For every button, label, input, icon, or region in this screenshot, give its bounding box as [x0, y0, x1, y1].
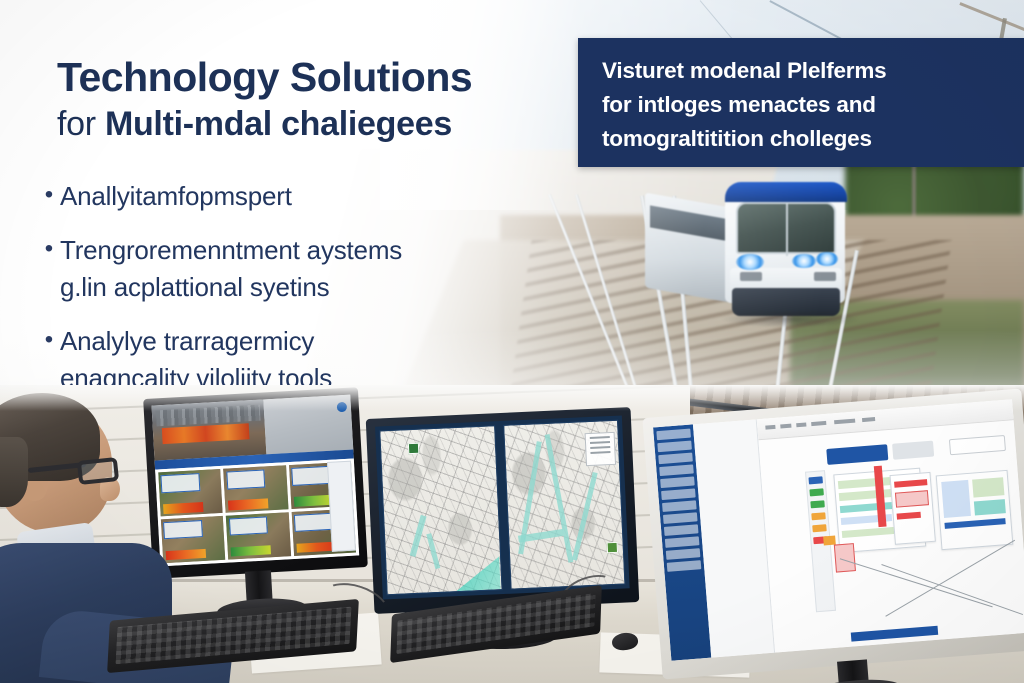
side-panel[interactable] [327, 461, 356, 552]
column-chip[interactable] [810, 500, 825, 508]
map-pane-right[interactable] [503, 420, 626, 590]
list-item-line-1: Analylye trarragermicy [60, 326, 314, 356]
alert-block [895, 490, 929, 508]
bullet-marker-icon: • [38, 178, 60, 212]
bullet-marker-icon: • [38, 232, 60, 266]
panel-indicator [336, 462, 337, 479]
list-item: • Anallyitamfopmspert [38, 178, 558, 215]
train-number-plate [740, 272, 762, 281]
monitor-screen[interactable] [152, 395, 360, 567]
grid-cell[interactable] [224, 466, 289, 513]
search-input[interactable] [948, 435, 1005, 456]
preview-card[interactable] [936, 470, 1013, 550]
control-room-photo [0, 385, 1024, 683]
dashboard-main-area[interactable] [757, 399, 1024, 652]
glasses-lens [77, 457, 119, 485]
train-number-plate [814, 272, 836, 281]
flag-block [834, 543, 857, 573]
inset-window [226, 469, 266, 489]
map-legend [585, 432, 616, 466]
panel-button[interactable] [331, 463, 332, 480]
inset-window [291, 466, 331, 486]
inset-window [229, 516, 269, 536]
list-item: • Trengroremenntment aystems g.lin acpla… [38, 232, 558, 306]
alert-row [894, 479, 927, 488]
active-tab-pill[interactable] [826, 444, 888, 465]
toolbar-icon[interactable] [765, 425, 776, 430]
monitor-screen[interactable] [375, 415, 630, 599]
train-windshield [736, 202, 836, 254]
city-blocks [380, 426, 501, 594]
status-badge-icon [336, 401, 347, 412]
dashboard-monitor[interactable] [642, 388, 1024, 679]
inset-window [294, 513, 334, 533]
rail-icon[interactable] [662, 500, 696, 512]
toolbar-icon[interactable] [781, 424, 792, 429]
toolbar-icon[interactable] [811, 421, 827, 426]
train-headlight [816, 252, 838, 266]
column-chip[interactable] [811, 512, 826, 520]
column-chip[interactable] [812, 524, 827, 532]
preview-footer [944, 518, 1005, 529]
column-chip[interactable] [808, 476, 823, 484]
list-item-line-1: Trengroremenntment aystems [60, 235, 402, 265]
page-title: Technology Solutions for Multi-mdal chal… [57, 52, 577, 146]
progress-bar [851, 626, 938, 642]
toolbar-icon[interactable] [834, 419, 855, 425]
column-chip[interactable] [809, 488, 824, 496]
monitor-screen[interactable] [653, 399, 1024, 661]
map-pane-left[interactable] [379, 425, 502, 595]
toolbar-icon[interactable] [862, 417, 875, 422]
rail-icon[interactable] [663, 512, 697, 524]
preview-pane [941, 480, 972, 519]
grid-cell[interactable] [226, 512, 291, 559]
rail-icon[interactable] [664, 524, 698, 536]
callout-line-1: Visturet modenal Plelferms [602, 54, 1002, 88]
list-item-line-2: g.lin acplattional syetins [60, 269, 402, 306]
train [700, 178, 900, 328]
headline-line-2-rest: Multi-mdal chaliegees [105, 105, 452, 143]
list-item-text: Trengroremenntment aystems g.lin acplatt… [60, 232, 402, 306]
headline-line-1: Technology Solutions [57, 52, 577, 102]
list-item-text: Anallyitamfopmspert [60, 178, 292, 215]
rail-icon[interactable] [656, 429, 690, 441]
aerial-view-thumbnail [264, 395, 354, 454]
rail-icon[interactable] [661, 488, 695, 500]
rail-icon[interactable] [659, 465, 693, 477]
bullet-list: • Anallyitamfopmspert • Trengroremenntme… [38, 178, 558, 414]
headline-line-2: for Multi-mdal chaliegees [57, 102, 577, 146]
panel-indicator [341, 462, 342, 479]
rail-icon[interactable] [657, 441, 691, 453]
secondary-tab-pill[interactable] [892, 441, 934, 461]
rail-icon[interactable] [667, 560, 701, 572]
train-roof-stripe [725, 182, 847, 202]
detail-card[interactable] [890, 471, 936, 544]
headline-line-2-lead: for [57, 105, 105, 143]
rail-icon[interactable] [666, 548, 700, 560]
train-headlight [736, 254, 764, 270]
rail-icon[interactable] [658, 453, 692, 465]
callout-line-2: for intloges menactes and [602, 88, 1002, 122]
train-headlight [792, 254, 816, 268]
preview-pane [972, 477, 1004, 497]
connector-line [881, 564, 1023, 615]
alert-row [897, 511, 921, 519]
train-shadow [720, 310, 860, 328]
list-item-line-1: Anallyitamfopmspert [60, 181, 292, 211]
preview-pane [974, 499, 1006, 516]
callout-line-3: tomograltitition cholleges [602, 122, 1002, 156]
map-marker-icon[interactable] [607, 541, 618, 552]
slide-canvas: Technology Solutions for Multi-mdal chal… [0, 0, 1024, 683]
bullet-marker-icon: • [38, 323, 60, 357]
toolbar-icon[interactable] [796, 422, 807, 427]
rail-icon[interactable] [660, 476, 694, 488]
callout-box: Visturet modenal Plelferms for intloges … [578, 38, 1024, 167]
map-marker-icon[interactable] [408, 443, 419, 454]
rail-icon[interactable] [665, 536, 699, 548]
